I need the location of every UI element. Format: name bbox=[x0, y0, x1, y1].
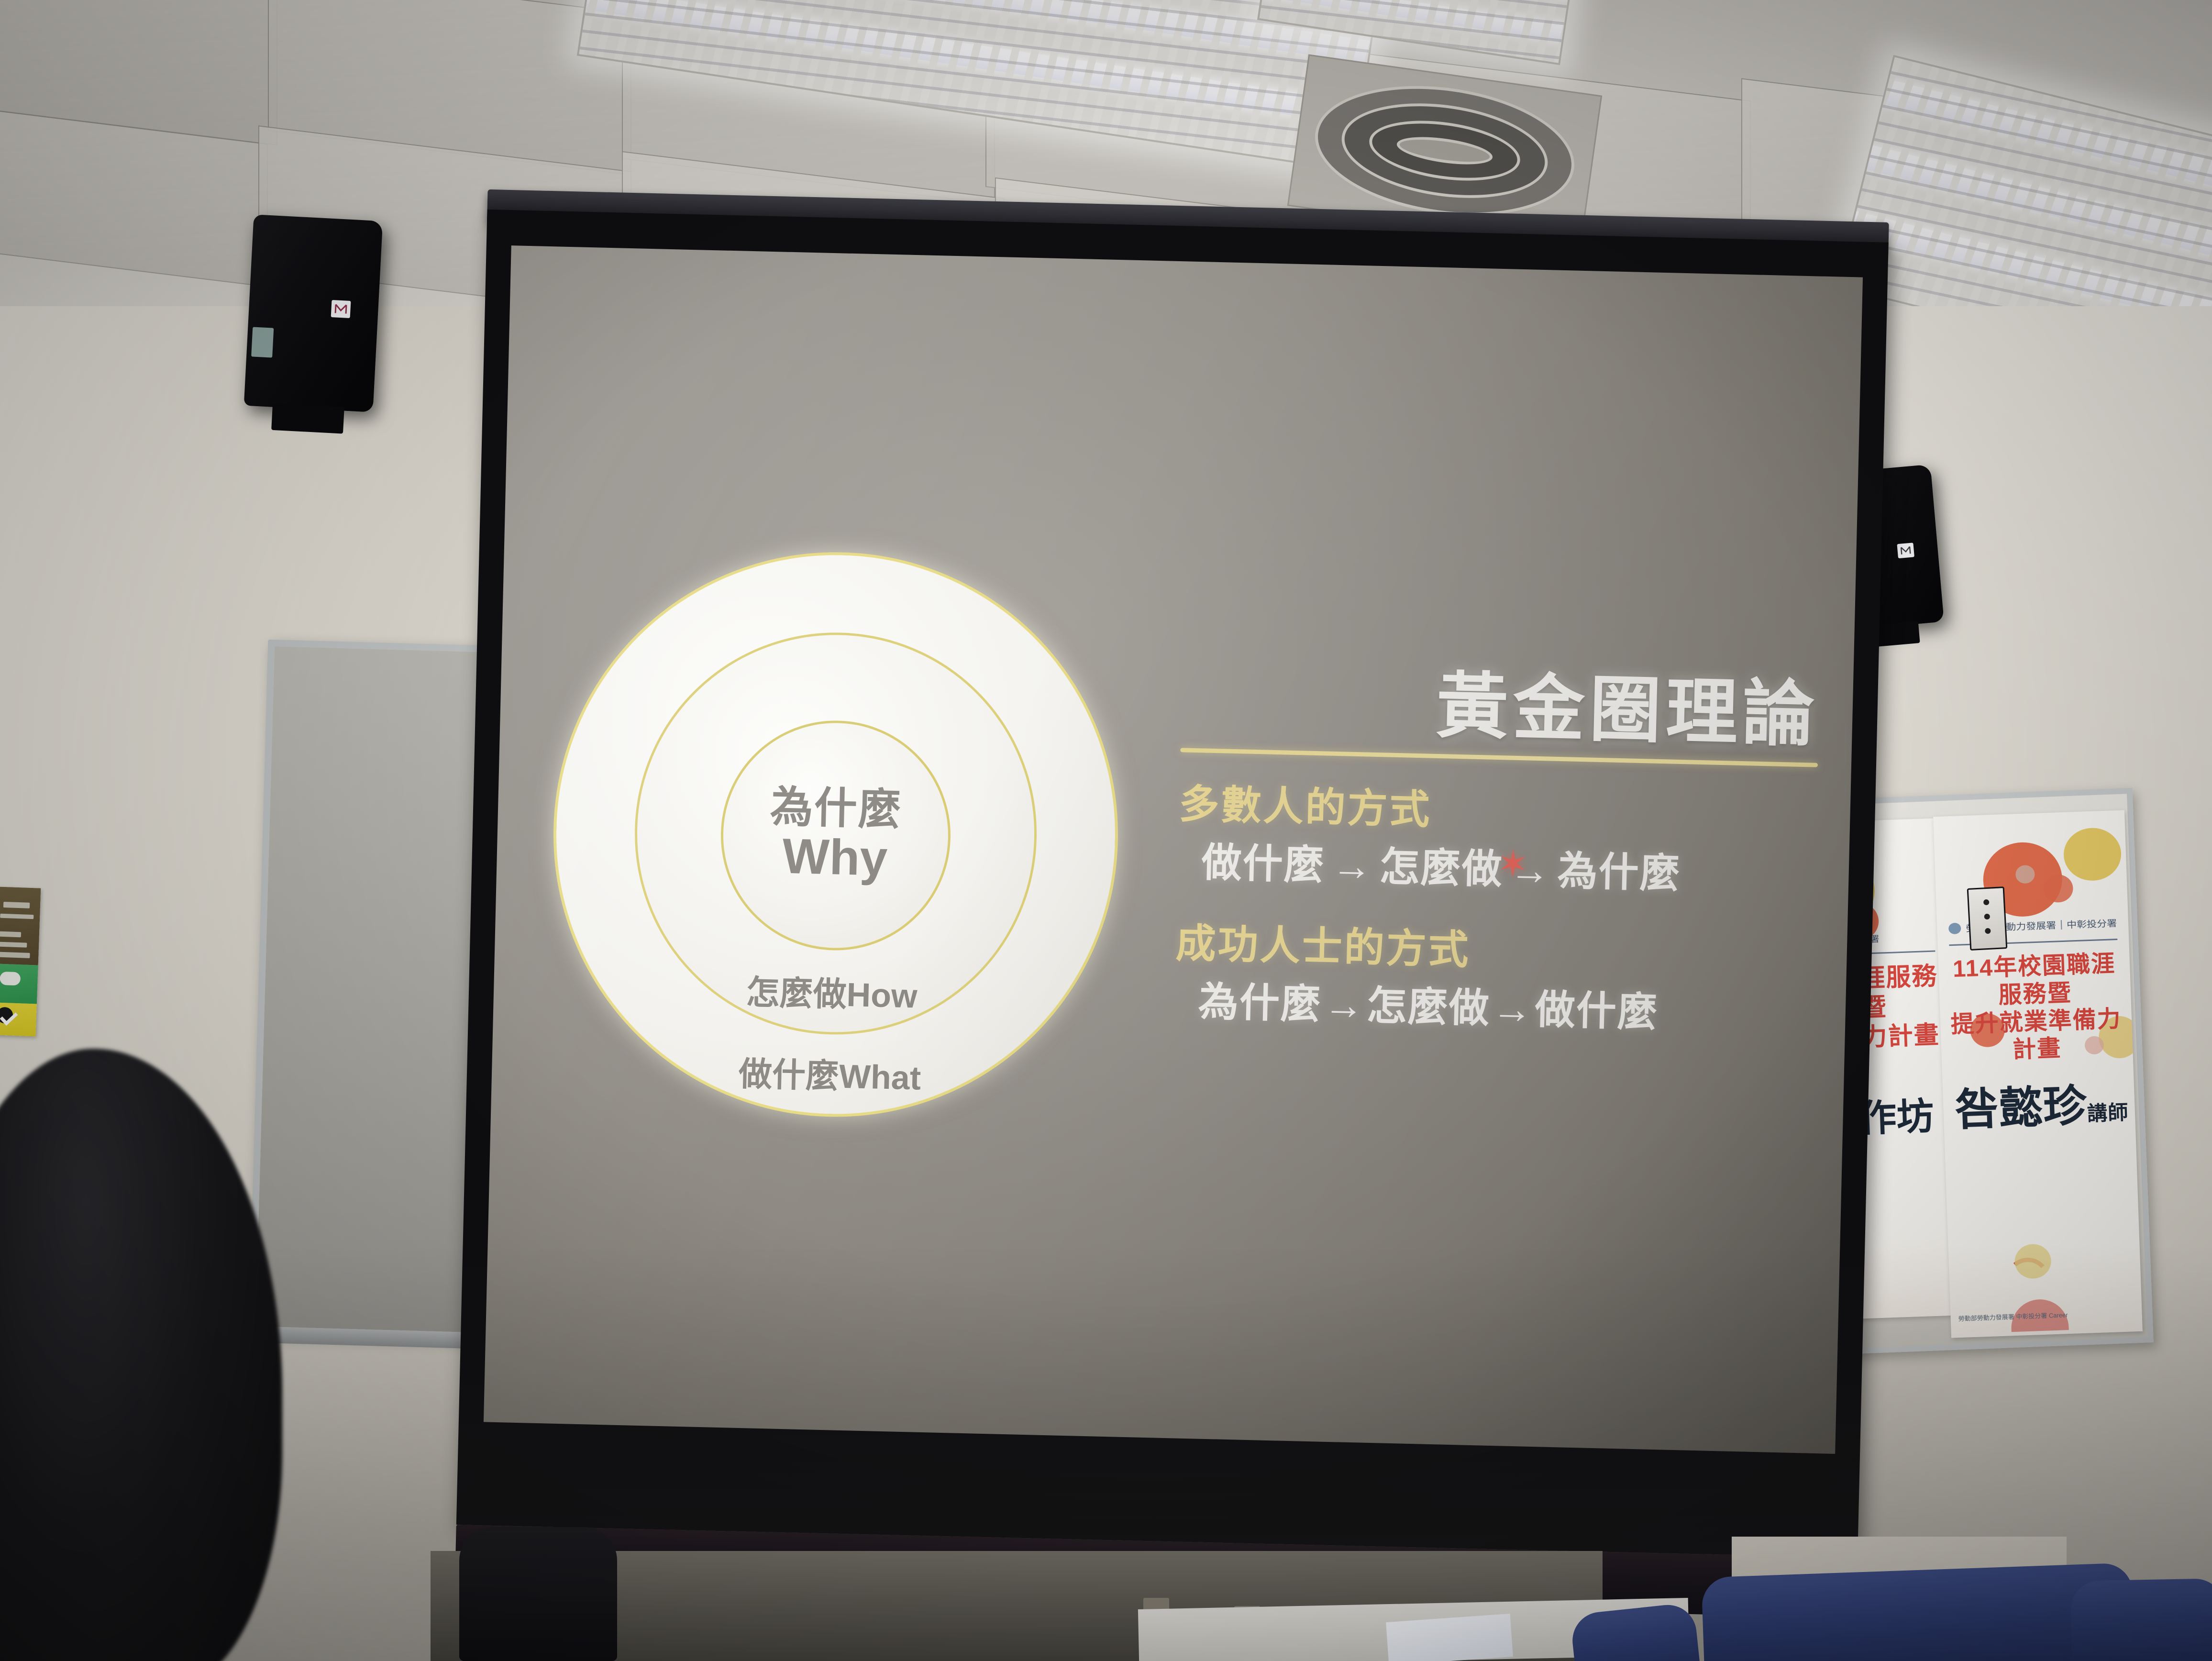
group-heading-most-people: 多數人的方式 bbox=[1178, 779, 1817, 844]
flow2-arrow-1: → bbox=[1323, 982, 1365, 1028]
chair-blue-right bbox=[1701, 1562, 2135, 1661]
slide-text-column: 黃金圈理論 多數人的方式 做什麼→怎麼做✶→為什麼 成功人士的方式 bbox=[1159, 261, 1863, 1454]
flow-step-1: 做什麼 bbox=[1201, 840, 1326, 888]
poster-right: 勞動部勞動力發展署 中彰投分署 114年校園職涯服務暨 提升就業準備力計畫 咎懿… bbox=[1933, 810, 2143, 1338]
group-most-people: 多數人的方式 做什麼→怎麼做✶→為什麼 bbox=[1177, 779, 1817, 904]
group-successful-people: 成功人士的方式 為什麼→怎麼做→做什麼 bbox=[1174, 918, 1814, 1042]
flow2-step-1: 為什麼 bbox=[1198, 979, 1322, 1027]
flow-step-2: 怎麼做 bbox=[1379, 844, 1504, 892]
flow-arrow-2-marked: ✶→ bbox=[1509, 844, 1551, 897]
flow-arrow-1: → bbox=[1331, 843, 1373, 889]
chair-dark bbox=[459, 1527, 617, 1661]
slide: 做什麼What 怎麼做How 為什麼 Why bbox=[484, 245, 1863, 1454]
group-flow-successful-people: 為什麼→怎麼做→做什麼 bbox=[1198, 975, 1813, 1042]
poster-right-branch: 中彰投分署 bbox=[2067, 917, 2117, 931]
ring-label-why-zh: 為什麼 bbox=[770, 786, 903, 832]
flow2-arrow-2: → bbox=[1492, 986, 1534, 1031]
poster-speaker-role: 講師 bbox=[2087, 1101, 2129, 1125]
group-flow-most-people: 做什麼→怎麼做✶→為什麼 bbox=[1201, 837, 1816, 903]
slide-title: 黃金圈理論 bbox=[1181, 664, 1820, 751]
wall-notice bbox=[0, 887, 41, 1037]
agency-seal-icon bbox=[1948, 923, 1961, 934]
flow-step-3: 為什麼 bbox=[1557, 848, 1681, 896]
paper-sheet bbox=[1386, 1614, 1513, 1661]
wall-speaker-left bbox=[244, 214, 383, 412]
ring-label-why-en: Why bbox=[782, 830, 888, 885]
flow2-step-2: 怎麼做 bbox=[1366, 983, 1491, 1030]
classroom-scene: 中彰投分署 園職涯服務暨 準備力計畫 工作坊 Career 勞動部勞動力發展署 … bbox=[0, 0, 2212, 1661]
golden-circle-diagram: 做什麼What 怎麼做How 為什麼 Why bbox=[484, 245, 1187, 1438]
group-heading-successful-people: 成功人士的方式 bbox=[1175, 918, 1814, 983]
poster-right-title-2: 提升就業準備力計畫 bbox=[1949, 1005, 2124, 1066]
chair-blue-far-right bbox=[2070, 1578, 2212, 1661]
poster-speaker-name: 咎懿珍 bbox=[1954, 1081, 2088, 1135]
screen-black-border: 做什麼What 怎麼做How 為什麼 Why bbox=[456, 210, 1889, 1558]
poster-right-title-1: 114年校園職涯服務暨 bbox=[1947, 950, 2122, 1011]
ring-label-how: 怎麼做How bbox=[746, 965, 918, 1018]
wall-switch[interactable] bbox=[1967, 886, 2008, 951]
fluorescent-troffer bbox=[1836, 55, 2212, 306]
slide-surface: 做什麼What 怎麼做How 為什麼 Why bbox=[484, 245, 1863, 1454]
flow2-step-3: 做什麼 bbox=[1535, 986, 1659, 1034]
red-cross-mark: ✶ bbox=[1497, 840, 1530, 889]
projection-screen: 做什麼What 怎麼做How 為什麼 Why bbox=[455, 189, 1889, 1609]
ring-label-what: 做什麼What bbox=[738, 1047, 921, 1100]
